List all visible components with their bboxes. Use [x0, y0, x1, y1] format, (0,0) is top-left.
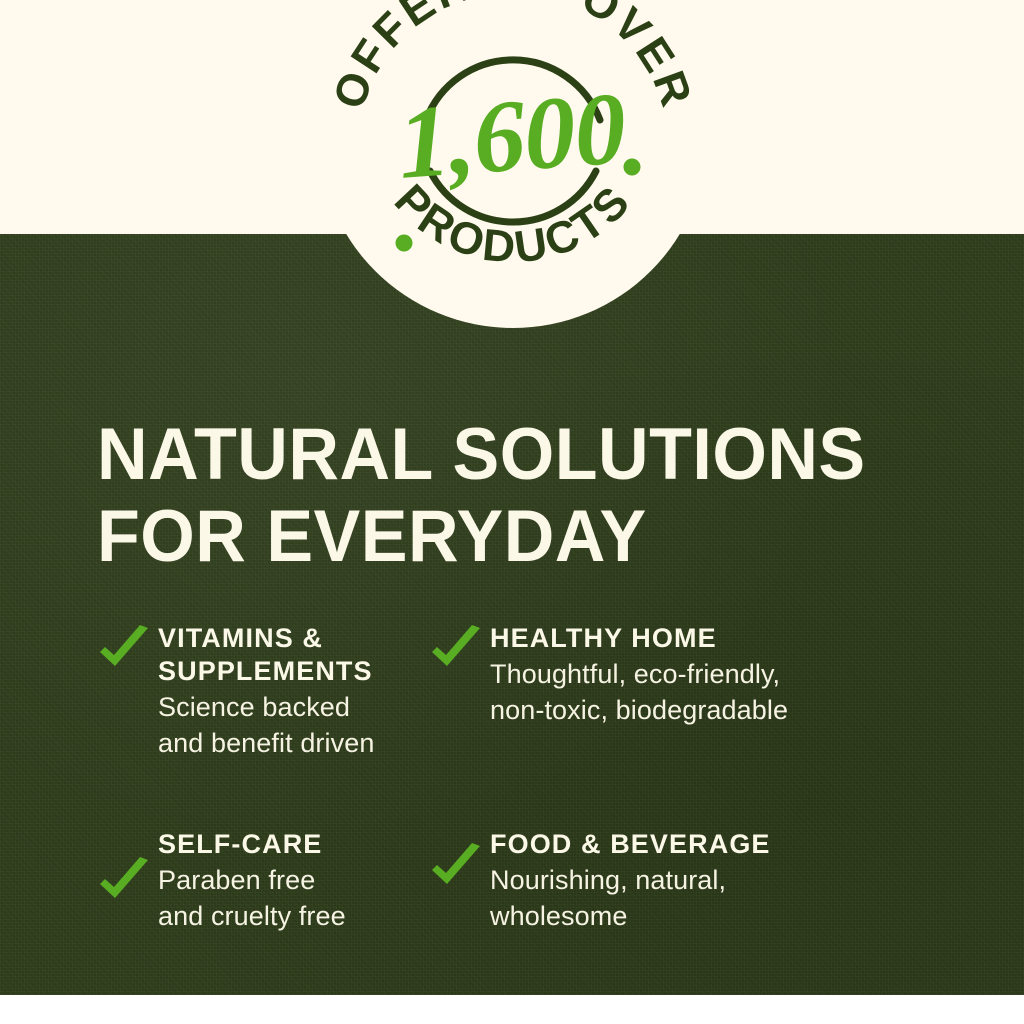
promo-poster: OFFERING OVER PRODUCTS 1,600 NATURAL SOL… [0, 0, 1024, 1024]
page-title: NATURAL SOLUTIONS FOR EVERYDAY [97, 414, 977, 578]
badge-dot-left-icon [396, 235, 413, 252]
checkmark-icon [96, 622, 152, 678]
bottom-white-strip [0, 995, 1024, 1024]
feature-title: HEALTHY HOME [490, 622, 1024, 655]
feature-text-block: FOOD & BEVERAGE Nourishing, natural, who… [428, 828, 1024, 934]
feature-item-self-care: SELF-CARE Paraben free and cruelty free [96, 828, 394, 968]
feature-description: Nourishing, natural, wholesome [490, 862, 1024, 934]
feature-text-block: HEALTHY HOME Thoughtful, eco-friendly, n… [428, 622, 1024, 728]
feature-grid: VITAMINS & SUPPLEMENTS Science backed an… [0, 622, 1024, 968]
feature-row-1: VITAMINS & SUPPLEMENTS Science backed an… [0, 622, 1024, 762]
feature-title: FOOD & BEVERAGE [490, 828, 1024, 861]
feature-item-food-beverage: FOOD & BEVERAGE Nourishing, natural, who… [428, 828, 1024, 968]
feature-description: Thoughtful, eco-friendly, non-toxic, bio… [490, 656, 1024, 728]
checkmark-icon [428, 840, 484, 896]
feature-description: Paraben free and cruelty free [158, 862, 394, 934]
badge-number: 1,600 [395, 71, 629, 201]
feature-row-2: SELF-CARE Paraben free and cruelty free … [0, 828, 1024, 968]
feature-description: Science backed and benefit driven [158, 689, 394, 761]
headline-line-1: NATURAL SOLUTIONS [97, 414, 942, 496]
headline-line-2: FOR EVERYDAY [97, 496, 942, 578]
feature-title: SELF-CARE [158, 828, 394, 861]
feature-item-healthy-home: HEALTHY HOME Thoughtful, eco-friendly, n… [428, 622, 1024, 762]
feature-item-vitamins-supplements: VITAMINS & SUPPLEMENTS Science backed an… [96, 622, 394, 762]
checkmark-icon [96, 854, 152, 910]
feature-title: VITAMINS & SUPPLEMENTS [158, 622, 394, 688]
checkmark-icon [428, 622, 484, 678]
offering-products-badge: OFFERING OVER PRODUCTS 1,600 [318, 0, 708, 328]
